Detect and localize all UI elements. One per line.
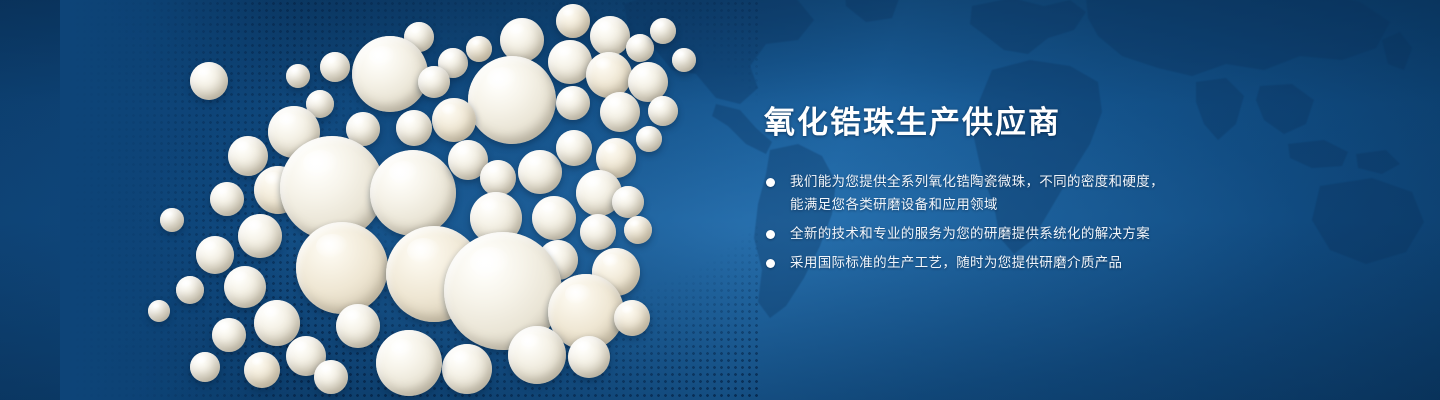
list-item-line-1: 全新的技术和专业的服务为您的研磨提供系统化的解决方案 bbox=[790, 226, 1150, 242]
bullet-dot-icon bbox=[766, 178, 775, 187]
list-item-line-2: 能满足您各类研磨设备和应用领域 bbox=[790, 194, 1234, 217]
halftone-fade-overlay bbox=[60, 0, 300, 400]
bullet-dot-icon bbox=[766, 259, 775, 268]
list-item: 采用国际标准的生产工艺，随时为您提供研磨介质产品 bbox=[764, 252, 1234, 275]
page-title: 氧化锆珠生产供应商 bbox=[764, 104, 1234, 143]
list-item-line-1: 我们能为您提供全系列氧化锆陶瓷微珠，不同的密度和硬度， bbox=[790, 174, 1164, 190]
feature-list: 我们能为您提供全系列氧化锆陶瓷微珠，不同的密度和硬度， 能满足您各类研磨设备和应… bbox=[764, 171, 1234, 275]
list-item-line-1: 采用国际标准的生产工艺，随时为您提供研磨介质产品 bbox=[790, 255, 1122, 271]
hero-banner: 氧化锆珠生产供应商 我们能为您提供全系列氧化锆陶瓷微珠，不同的密度和硬度， 能满… bbox=[0, 0, 1440, 400]
list-item: 我们能为您提供全系列氧化锆陶瓷微珠，不同的密度和硬度， 能满足您各类研磨设备和应… bbox=[764, 171, 1234, 217]
bullet-dot-icon bbox=[766, 230, 775, 239]
list-item: 全新的技术和专业的服务为您的研磨提供系统化的解决方案 bbox=[764, 223, 1234, 246]
banner-copy: 氧化锆珠生产供应商 我们能为您提供全系列氧化锆陶瓷微珠，不同的密度和硬度， 能满… bbox=[764, 104, 1234, 275]
